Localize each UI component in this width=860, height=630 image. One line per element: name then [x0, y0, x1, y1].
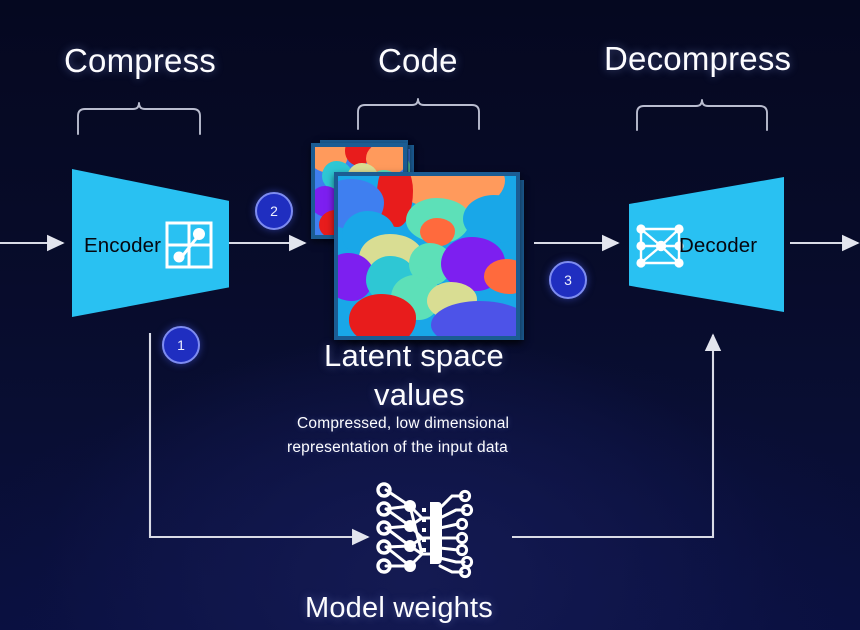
step-badge-2[interactable]: 2: [255, 192, 293, 230]
latent-card-large-front[interactable]: [334, 172, 520, 340]
heading-compress: Compress: [64, 42, 216, 80]
model-weights-label: Model weights: [305, 592, 493, 625]
latent-title-line1: Latent space: [324, 338, 504, 374]
step-badge-3[interactable]: 3: [549, 261, 587, 299]
latent-grid-icon: [165, 221, 213, 269]
latent-caption-line2: representation of the input data: [287, 439, 508, 457]
autoencoder-diagram: Compress Code Decompress: [0, 0, 860, 630]
latent-title-line2: values: [374, 377, 465, 413]
connector-weights-to-decoder: [512, 335, 713, 537]
brace-compress: [78, 103, 200, 134]
step-badge-1[interactable]: 1: [162, 326, 200, 364]
brace-decompress: [637, 100, 767, 130]
neural-network-chip-icon: [372, 478, 478, 584]
decoder-label: Decoder: [679, 234, 757, 258]
brace-code: [358, 99, 479, 129]
step-badge-1-label: 1: [177, 337, 185, 353]
latent-caption-line1: Compressed, low dimensional: [297, 415, 509, 433]
heading-code: Code: [378, 42, 458, 80]
step-badge-3-label: 3: [564, 272, 572, 288]
encoder-label: Encoder: [84, 234, 161, 258]
heading-decompress: Decompress: [604, 40, 791, 78]
step-badge-2-label: 2: [270, 203, 278, 219]
